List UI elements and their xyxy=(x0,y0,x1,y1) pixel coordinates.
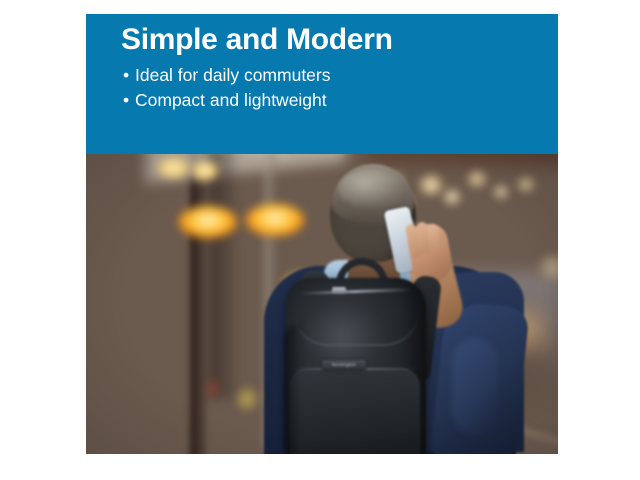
bokeh-light xyxy=(516,176,536,193)
ceiling-light-icon xyxy=(158,158,188,178)
page-title: Simple and Modern xyxy=(121,22,393,58)
bokeh-light xyxy=(442,188,462,206)
overhead-lamp-icon xyxy=(246,204,304,236)
backpack-highlight xyxy=(302,304,384,364)
list-item: • Ideal for daily commuters xyxy=(123,63,331,88)
ceiling-light-icon xyxy=(192,162,218,180)
headline-banner: Simple and Modern • Ideal for daily comm… xyxy=(86,14,558,154)
bokeh-light-yellow xyxy=(236,386,258,412)
backpack-brand-label: kensington xyxy=(332,363,356,368)
product-lifestyle-photo: kensington xyxy=(86,154,558,454)
overhead-lamp-icon xyxy=(179,206,237,238)
list-item: • Compact and lightweight xyxy=(123,88,331,113)
finger xyxy=(427,224,440,255)
backpack-brand-logo: kensington xyxy=(322,360,366,370)
bokeh-light xyxy=(492,184,510,200)
track-ballast xyxy=(366,154,558,164)
bokeh-light xyxy=(418,174,444,196)
jacket-sleeve-fold xyxy=(452,338,498,434)
backpack-left-shadow xyxy=(284,324,302,454)
feature-bullet-list: • Ideal for daily commuters • Compact an… xyxy=(123,63,331,113)
bokeh-light xyxy=(466,170,488,188)
bullet-dot-icon: • xyxy=(123,88,135,113)
brick-wall-edge xyxy=(190,154,206,454)
bullet-label: Compact and lightweight xyxy=(135,88,327,113)
bullet-label: Ideal for daily commuters xyxy=(135,63,331,88)
station-pillar xyxy=(208,154,236,398)
hair-grey-highlight xyxy=(338,170,404,208)
backpack-front-pocket xyxy=(290,368,420,454)
backpack-zipper-pull xyxy=(332,287,346,294)
slide-canvas: Simple and Modern • Ideal for daily comm… xyxy=(0,0,640,480)
bullet-dot-icon: • xyxy=(123,63,135,88)
bokeh-light-red xyxy=(206,378,220,398)
